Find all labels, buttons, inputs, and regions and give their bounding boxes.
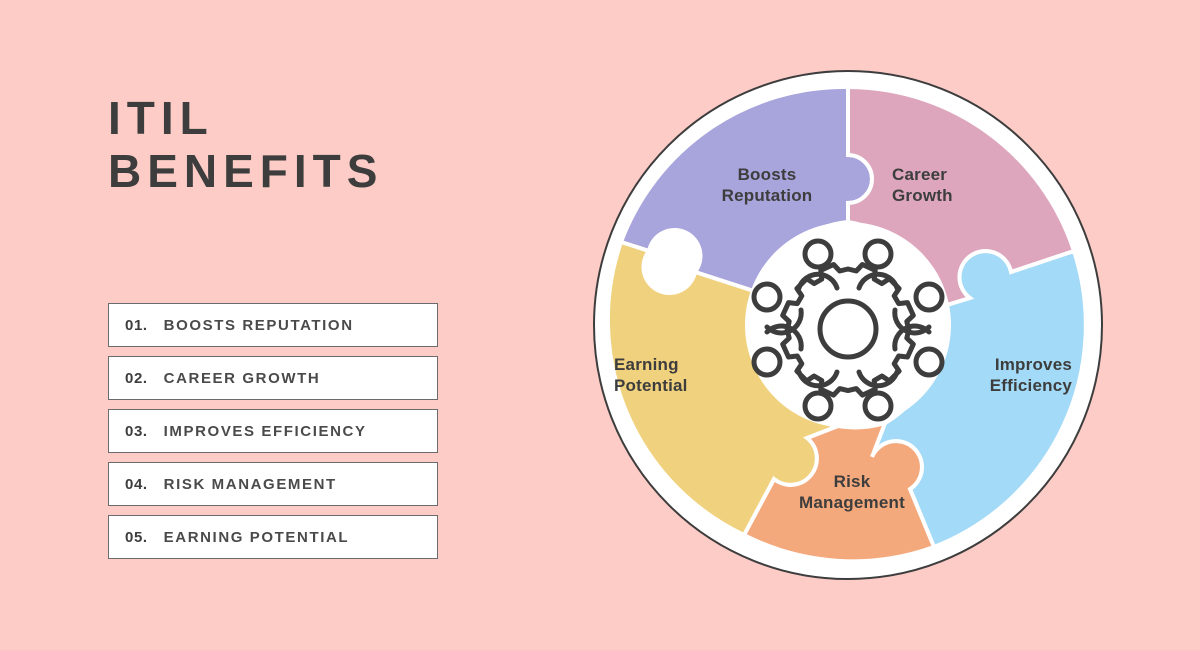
segment-label-improves-efficiency: Improves Efficiency	[882, 354, 1072, 397]
left-panel: ITIL BENEFITS 01. BOOSTS REPUTATION 02. …	[0, 0, 520, 650]
segment-label-risk-management: Risk Management	[752, 471, 952, 514]
list-item-number: 04.	[125, 476, 148, 493]
list-item-label: EARNING POTENTIAL	[164, 529, 350, 546]
list-item-label: RISK MANAGEMENT	[164, 476, 337, 493]
list-item-number: 02.	[125, 370, 148, 387]
list-item-number: 01.	[125, 317, 148, 334]
segment-label-boosts-reputation: Boosts Reputation	[652, 164, 882, 207]
list-item[interactable]: 01. BOOSTS REPUTATION	[108, 303, 438, 347]
list-item-number: 03.	[125, 423, 148, 440]
page-title: ITIL BENEFITS	[108, 92, 508, 199]
list-item-label: IMPROVES EFFICIENCY	[164, 423, 367, 440]
list-item[interactable]: 03. IMPROVES EFFICIENCY	[108, 409, 438, 453]
list-item[interactable]: 02. CAREER GROWTH	[108, 356, 438, 400]
infographic-canvas: ITIL BENEFITS 01. BOOSTS REPUTATION 02. …	[0, 0, 1200, 650]
list-item-label: BOOSTS REPUTATION	[164, 317, 354, 334]
segment-label-earning-potential: Earning Potential	[614, 354, 794, 397]
benefits-list: 01. BOOSTS REPUTATION 02. CAREER GROWTH …	[108, 303, 438, 568]
list-item-label: CAREER GROWTH	[164, 370, 321, 387]
segment-label-career-growth: Career Growth	[892, 164, 1072, 207]
puzzle-wheel: Boosts Reputation Career Growth Improves…	[592, 69, 1104, 581]
list-item[interactable]: 05. EARNING POTENTIAL	[108, 515, 438, 559]
list-item[interactable]: 04. RISK MANAGEMENT	[108, 462, 438, 506]
list-item-number: 05.	[125, 529, 148, 546]
